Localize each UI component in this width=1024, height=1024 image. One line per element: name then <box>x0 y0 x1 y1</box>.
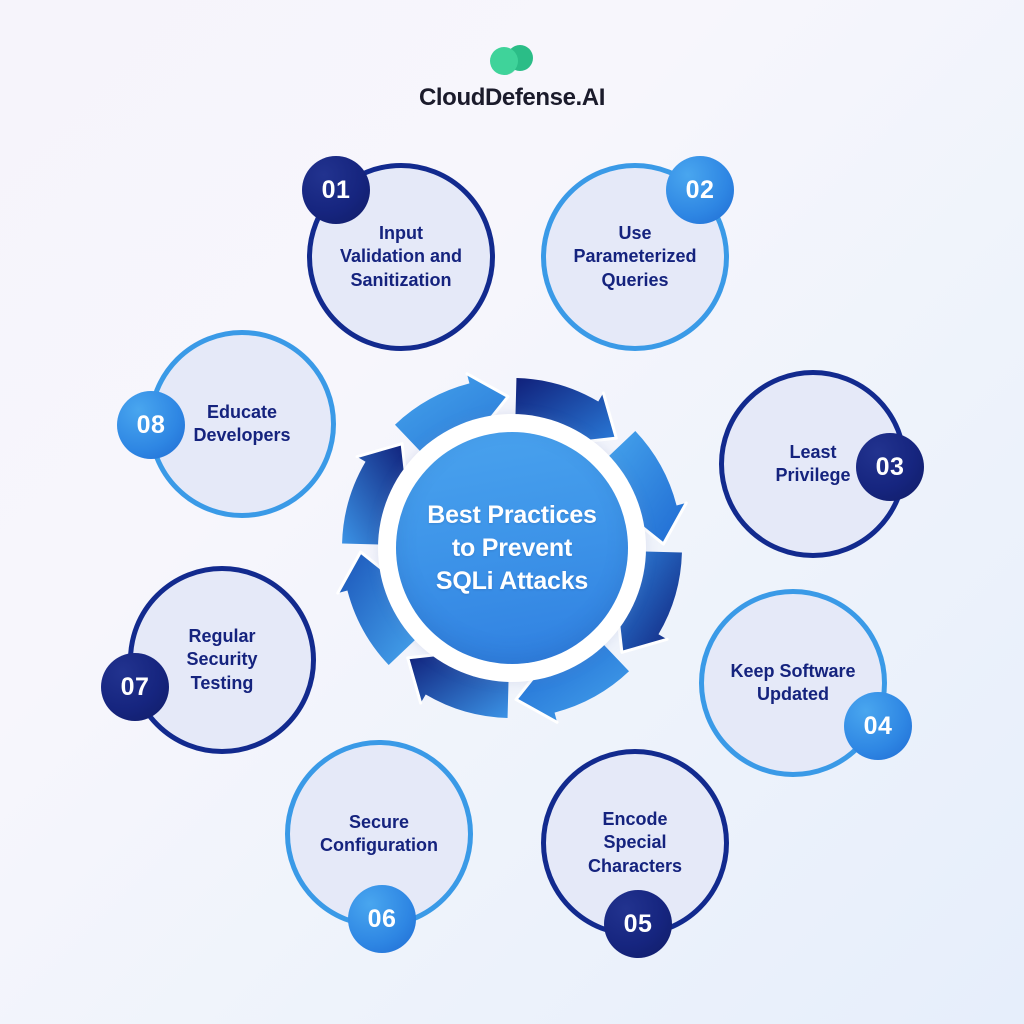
center-hub: Best Practices to Prevent SQLi Attacks <box>332 368 692 728</box>
step-badge-04: 04 <box>844 692 912 760</box>
infographic-canvas: CloudDefense.AI <box>0 0 1024 1024</box>
step-badge-08: 08 <box>117 391 185 459</box>
hub-core: Best Practices to Prevent SQLi Attacks <box>396 432 628 664</box>
step-node-05[interactable]: Encode Special Characters 05 <box>541 749 729 937</box>
step-label-02: Use Parameterized Queries <box>565 222 704 291</box>
step-label-05: Encode Special Characters <box>580 808 690 877</box>
step-node-04[interactable]: Keep Software Updated 04 <box>699 589 887 777</box>
step-label-08: Educate Developers <box>185 401 298 447</box>
step-label-06: Secure Configuration <box>312 811 446 857</box>
brand-header: CloudDefense.AI <box>0 44 1024 112</box>
brand-name: CloudDefense.AI <box>0 84 1024 112</box>
step-node-03[interactable]: Least Privilege 03 <box>719 370 907 558</box>
step-badge-02: 02 <box>666 156 734 224</box>
step-label-07: Regular Security Testing <box>178 625 265 694</box>
step-node-07[interactable]: Regular Security Testing 07 <box>128 566 316 754</box>
step-badge-01: 01 <box>302 156 370 224</box>
step-label-01: Input Validation and Sanitization <box>332 222 470 291</box>
step-label-03: Least Privilege <box>767 441 858 487</box>
step-label-04: Keep Software Updated <box>722 660 863 706</box>
step-node-02[interactable]: Use Parameterized Queries 02 <box>541 163 729 351</box>
step-badge-07: 07 <box>101 653 169 721</box>
step-node-08[interactable]: Educate Developers 08 <box>148 330 336 518</box>
hub-title: Best Practices to Prevent SQLi Attacks <box>415 499 609 598</box>
step-badge-05: 05 <box>604 890 672 958</box>
cloud-icon <box>484 44 540 78</box>
step-node-06[interactable]: Secure Configuration 06 <box>285 740 473 928</box>
step-badge-03: 03 <box>856 433 924 501</box>
step-badge-06: 06 <box>348 885 416 953</box>
step-node-01[interactable]: Input Validation and Sanitization 01 <box>307 163 495 351</box>
